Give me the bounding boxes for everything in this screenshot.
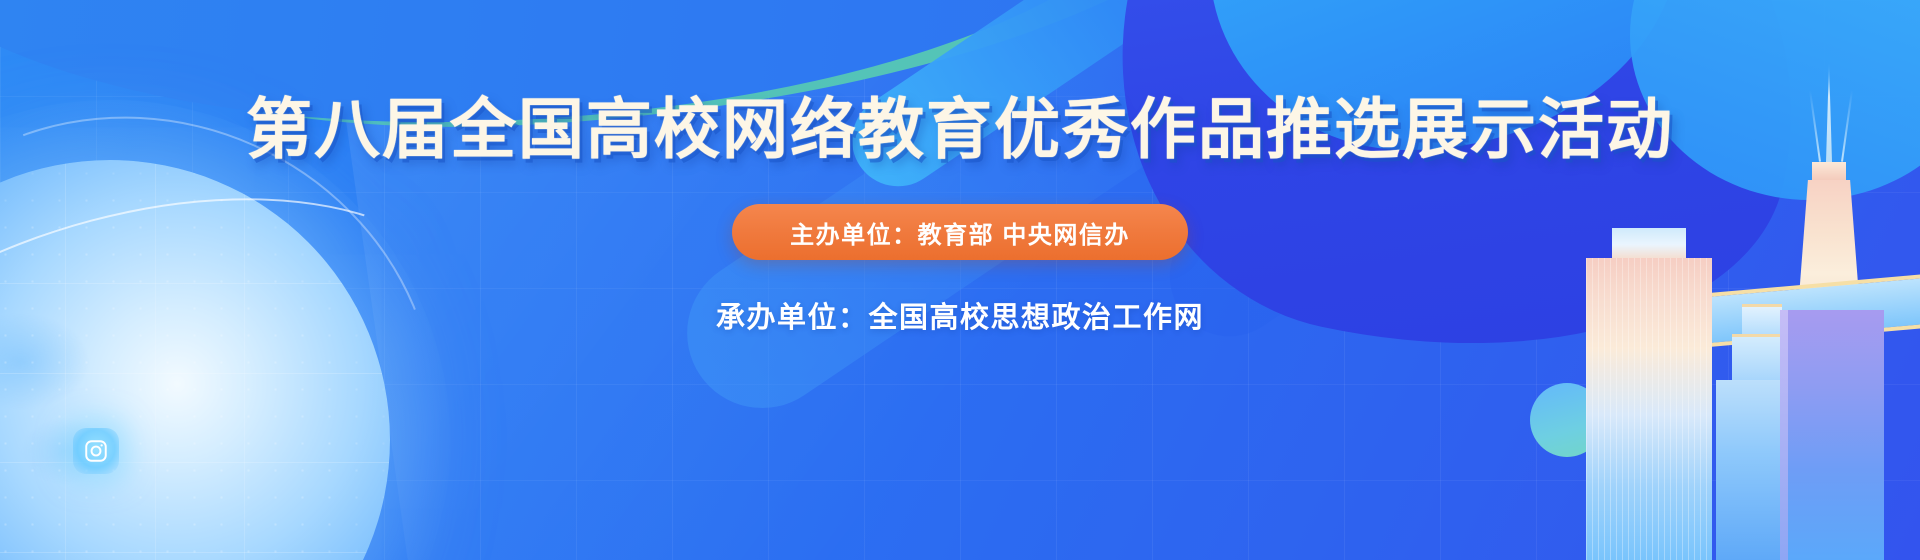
banner-title: 第八届全国高校网络教育优秀作品推选展示活动 — [246, 96, 1674, 162]
organizer-line: 承办单位：全国高校思想政治工作网 — [716, 294, 1204, 336]
banner-content: 第八届全国高校网络教育优秀作品推选展示活动 主办单位：教育部 中央网信办 承办单… — [0, 0, 1920, 560]
host-organization-pill: 主办单位：教育部 中央网信办 — [732, 204, 1188, 260]
event-banner: 第八届全国高校网络教育优秀作品推选展示活动 主办单位：教育部 中央网信办 承办单… — [0, 0, 1920, 560]
